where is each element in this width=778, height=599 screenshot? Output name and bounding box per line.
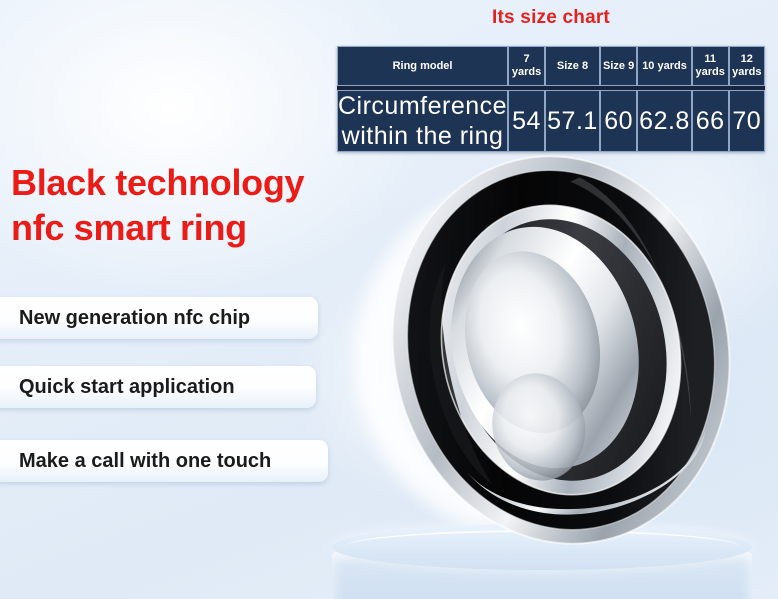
table-value-size-8: 57.1 xyxy=(545,90,600,152)
table-value-row: Circumference within the ring 54 57.1 60… xyxy=(337,90,765,152)
row-label-line2: within the ring xyxy=(342,122,504,150)
header-7-line2: yards xyxy=(512,66,541,78)
size-chart-title: Its size chart xyxy=(337,7,765,29)
product-headline: Black technology nfc smart ring xyxy=(11,160,371,250)
table-header-size-8: Size 8 xyxy=(545,46,600,86)
feature-label: New generation nfc chip xyxy=(19,307,250,330)
table-value-size-9: 60 xyxy=(600,90,637,152)
table-value-size-12: 70 xyxy=(729,90,765,152)
feature-label: Quick start application xyxy=(19,376,235,399)
feature-pill-make-a-call-with-one-touch: Make a call with one touch xyxy=(0,440,328,482)
row-label-line1: Circumference xyxy=(338,92,507,120)
headline-line-2: nfc smart ring xyxy=(11,205,371,250)
size-chart-table: Ring model 7 yards Size 8 Size 9 10 yard… xyxy=(337,46,765,152)
table-value-size-7: 54 xyxy=(508,90,545,152)
table-value-size-11: 66 xyxy=(692,90,729,152)
feature-label: Make a call with one touch xyxy=(19,450,271,473)
table-header-size-12: 12 yards xyxy=(729,46,765,86)
table-header-size-7: 7 yards xyxy=(508,46,545,86)
ring-illustration xyxy=(372,148,750,552)
product-poster: Its size chart Ring model 7 yards Size 8… xyxy=(0,0,778,599)
headline-line-1: Black technology xyxy=(11,162,304,203)
header-7-line1: 7 xyxy=(523,53,529,65)
nfc-ring-product-image xyxy=(372,148,750,552)
table-header-size-10: 10 yards xyxy=(637,46,692,86)
table-header-size-11: 11 yards xyxy=(692,46,729,86)
table-header-ring-model: Ring model xyxy=(337,46,508,86)
feature-pill-new-generation-nfc-chip: New generation nfc chip xyxy=(0,297,318,339)
table-header-row: Ring model 7 yards Size 8 Size 9 10 yard… xyxy=(337,46,765,86)
table-row-label-circumference: Circumference within the ring xyxy=(337,90,508,152)
feature-pill-quick-start-application: Quick start application xyxy=(0,366,316,408)
table-header-size-9: Size 9 xyxy=(600,46,637,86)
table-value-size-10: 62.8 xyxy=(637,90,692,152)
